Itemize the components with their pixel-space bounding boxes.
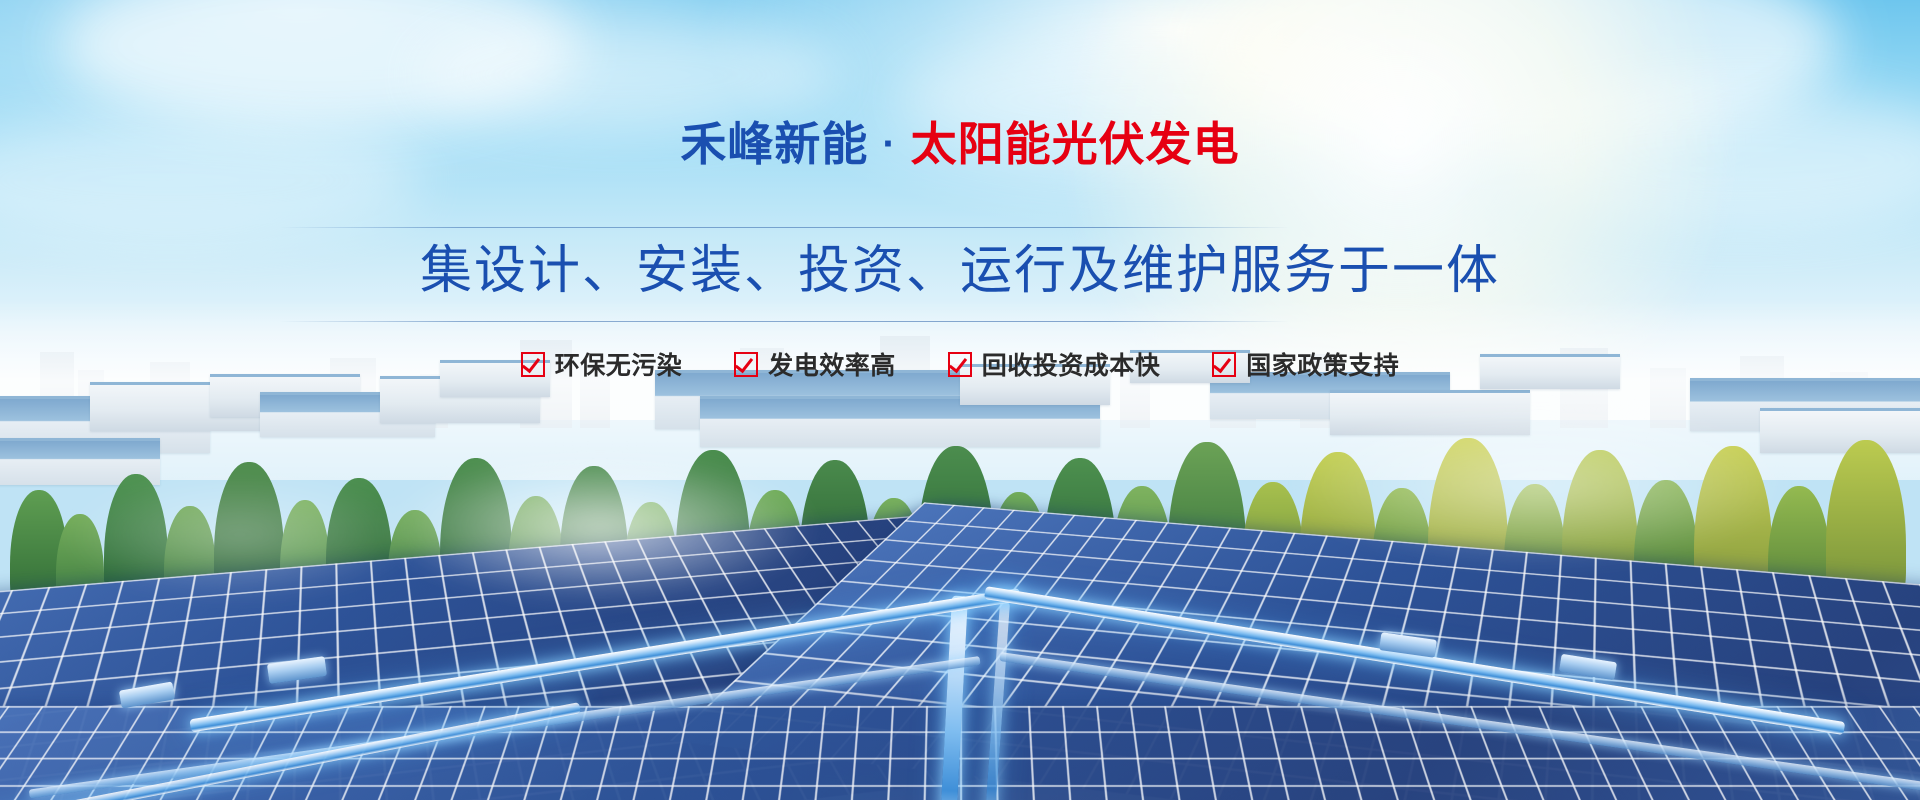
feature-label: 国家政策支持 [1246,346,1399,382]
product-name: 太阳能光伏发电 [911,118,1240,170]
feature-label: 回收投资成本快 [982,346,1161,382]
checkbox-checked-icon [1212,352,1236,377]
solar-energy-hero-banner: 禾峰新能·太阳能光伏发电 集设计、安装、投资、运行及维护服务于一体 环保无污染 … [0,0,1920,800]
checkbox-checked-icon [948,352,972,377]
feature-label: 发电效率高 [768,346,896,382]
feature-item-roi: 回收投资成本快 [948,346,1161,382]
feature-item-efficiency: 发电效率高 [734,346,896,382]
page-subtitle: 集设计、安装、投资、运行及维护服务于一体 [0,238,1920,306]
divider-line-bottom [280,321,1290,322]
title-separator-dot: · [868,122,910,166]
feature-label: 环保无污染 [555,346,683,382]
checkbox-checked-icon [734,352,758,377]
feature-list: 环保无污染 发电效率高 回收投资成本快 国家政策支持 [0,346,1920,382]
page-title: 禾峰新能·太阳能光伏发电 [0,118,1920,171]
checkbox-checked-icon [521,352,545,377]
feature-item-policy: 国家政策支持 [1212,346,1399,382]
brand-name: 禾峰新能 [680,118,868,170]
feature-item-eco: 环保无污染 [521,346,683,382]
divider-line-top [280,227,1290,228]
banner-text-overlay: 禾峰新能·太阳能光伏发电 集设计、安装、投资、运行及维护服务于一体 环保无污染 … [0,0,1920,800]
